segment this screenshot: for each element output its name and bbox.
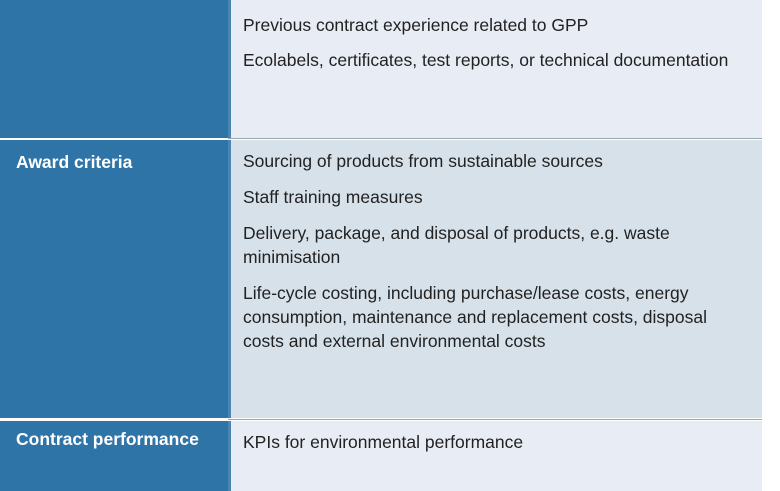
row-label-cell-contract-performance: Contract performance [0, 421, 228, 491]
gpp-criteria-table: on environmental aspects of contract Pre… [0, 0, 762, 470]
row-divider-2-rule [228, 419, 762, 420]
row-label-award-criteria: Award criteria [16, 152, 132, 172]
row-body-cell-award-criteria: Sourcing of products from sustainable so… [228, 140, 762, 418]
list-item: Ecolabels, certificates, test reports, o… [241, 48, 748, 72]
row-label-contract-performance: Contract performance [16, 429, 199, 449]
row-divider-1-rule [228, 138, 762, 139]
row-label-cell-empty [0, 0, 228, 138]
list-item: KPIs for environmental performance [241, 430, 748, 454]
list-item: Sourcing of products from sustainable so… [241, 149, 748, 173]
list-item: Previous contract experience related to … [241, 13, 748, 37]
row-body-cell-selection-criteria: on environmental aspects of contract Pre… [228, 0, 762, 138]
table-row-selection-criteria-continued: on environmental aspects of contract Pre… [0, 0, 762, 138]
list-item: Life-cycle costing, including purchase/l… [241, 281, 748, 353]
row-label-cell-award-criteria: Award criteria [0, 140, 228, 418]
page-right-margin [762, 0, 780, 470]
list-item: on environmental aspects of contract [241, 0, 748, 2]
list-item: Staff training measures [241, 185, 748, 209]
table-row-contract-performance: Contract performance KPIs for environmen… [0, 421, 762, 491]
list-item: Delivery, package, and disposal of produ… [241, 221, 748, 269]
row-body-cell-contract-performance: KPIs for environmental performance [228, 421, 762, 491]
table-row-award-criteria: Award criteria Sourcing of products from… [0, 140, 762, 418]
